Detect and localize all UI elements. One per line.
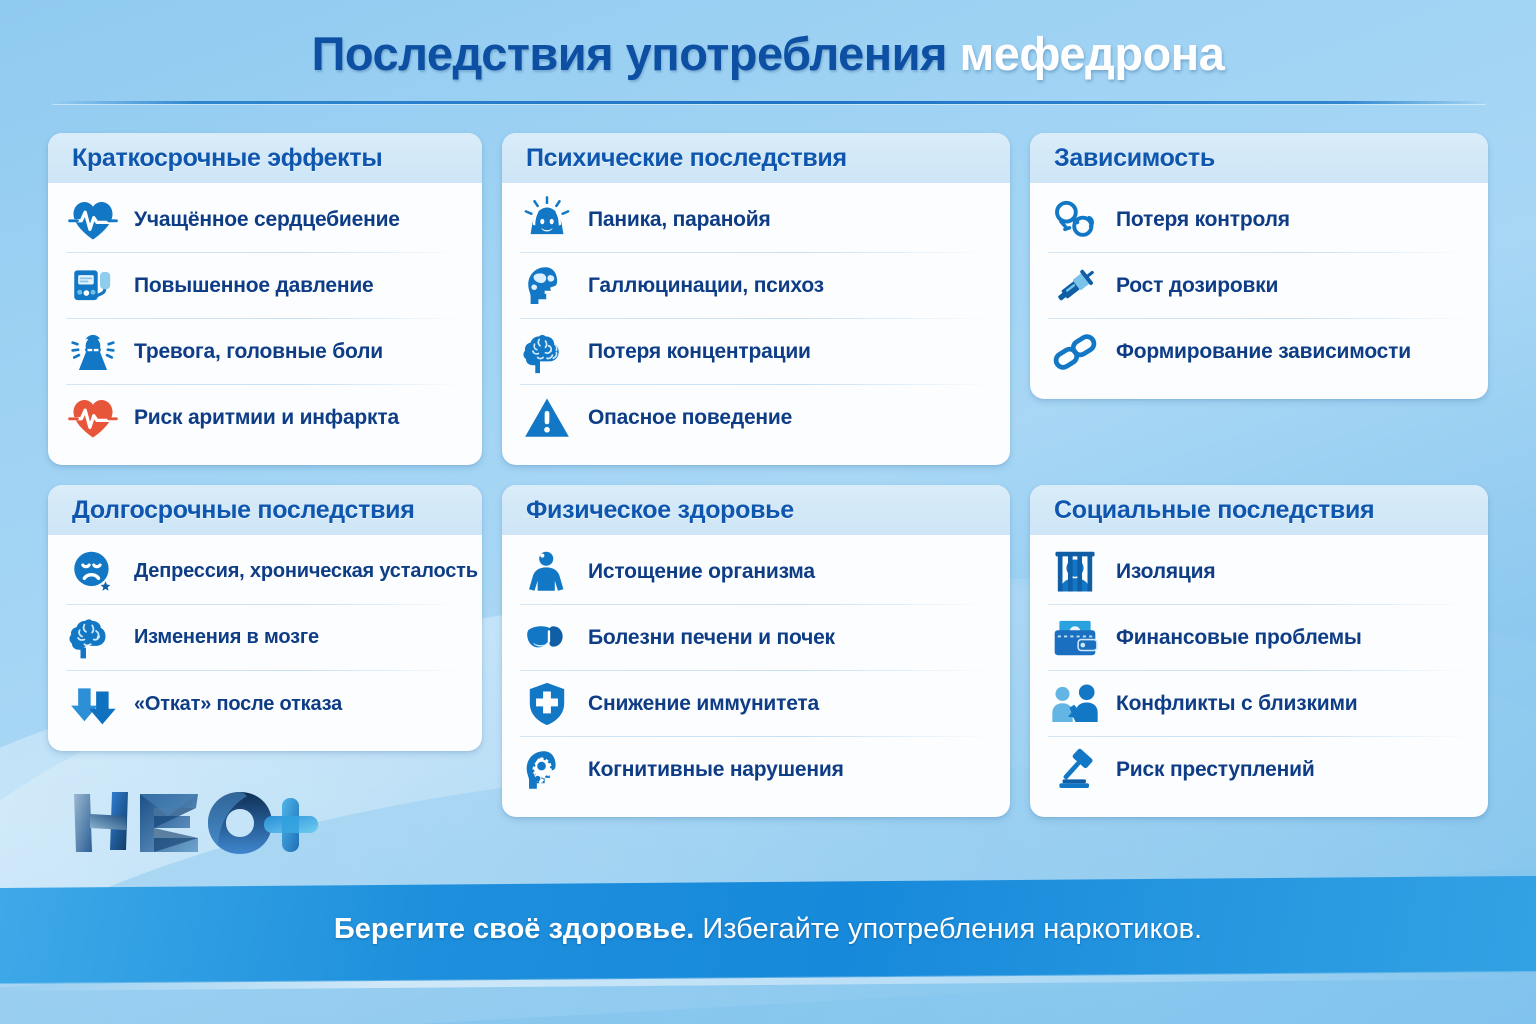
liver-kidney-icon xyxy=(520,611,574,665)
handcuffs-icon xyxy=(1048,193,1102,247)
down-arrows-icon xyxy=(66,677,120,731)
list-item[interactable]: Конфликты с близкими xyxy=(1048,671,1468,737)
list-item[interactable]: Повышенное давление xyxy=(66,253,462,319)
list-item[interactable]: Учащённое сердцебиение xyxy=(66,187,462,253)
list-item-label: Изоляция xyxy=(1116,560,1215,584)
list-item[interactable]: Риск преступлений xyxy=(1048,737,1468,803)
card-title: Долгосрочные последствия xyxy=(72,496,458,525)
sad-face-icon xyxy=(66,545,120,599)
list-item-label: Потеря контроля xyxy=(1116,208,1290,232)
card-title: Краткосрочные эффекты xyxy=(72,144,458,173)
footer-bold-part: Берегите своё здоровье. xyxy=(334,913,694,945)
list-item[interactable]: Риск аритмии и инфаркта xyxy=(66,385,462,451)
list-item-label: Изменения в мозге xyxy=(134,626,319,649)
card-header: Физическое здоровье xyxy=(502,485,1010,535)
list-item-label: Тревога, головные боли xyxy=(134,340,383,364)
hallucination-head-icon xyxy=(520,259,574,313)
footer-normal-part: Избегайте употребления наркотиков. xyxy=(702,913,1202,945)
list-item-label: Когнитивные нарушения xyxy=(588,758,844,782)
list-item[interactable]: Галлюцинации, психоз xyxy=(520,253,990,319)
card-body: Паника, паранойя Галлюцинации, психоз xyxy=(502,183,1010,465)
card-title: Социальные последствия xyxy=(1054,496,1464,525)
list-item-label: Галлюцинации, психоз xyxy=(588,274,824,298)
list-item-label: «Откат» после отказа xyxy=(134,693,342,716)
list-item-label: Болезни печени и почек xyxy=(588,626,835,650)
heart-attack-risk-icon xyxy=(66,391,120,445)
list-item[interactable]: Опасное поведение xyxy=(520,385,990,451)
card-body: Учащённое сердцебиение xyxy=(48,183,482,465)
list-item[interactable]: Финансовые проблемы xyxy=(1048,605,1468,671)
list-item[interactable]: Когнитивные нарушения xyxy=(520,737,990,803)
list-item[interactable]: Рост дозировки xyxy=(1048,253,1468,319)
conflict-people-icon xyxy=(1048,677,1102,731)
wallet-icon xyxy=(1048,611,1102,665)
list-item-label: Учащённое сердцебиение xyxy=(134,208,400,232)
cards-grid: Краткосрочные эффекты Учащённое сердцеби… xyxy=(48,133,1490,817)
gavel-icon xyxy=(1048,743,1102,797)
prison-bars-icon xyxy=(1048,545,1102,599)
blood-pressure-monitor-icon xyxy=(66,259,120,313)
list-item-label: Потеря концентрации xyxy=(588,340,811,364)
list-item-label: Опасное поведение xyxy=(588,406,792,430)
page-title-primary: Последствия употребления xyxy=(312,27,947,80)
card-title: Физическое здоровье xyxy=(526,496,986,525)
card-header: Социальные последствия xyxy=(1030,485,1488,535)
card-physical-health: Физическое здоровье Истощение организма xyxy=(502,485,1010,817)
list-item-label: Рост дозировки xyxy=(1116,274,1278,298)
brain-icon xyxy=(520,325,574,379)
panic-ghost-icon xyxy=(520,193,574,247)
warning-triangle-icon xyxy=(520,391,574,445)
list-item[interactable]: Тревога, головные боли xyxy=(66,319,462,385)
list-item[interactable]: Болезни печени и почек xyxy=(520,605,990,671)
head-gears-icon xyxy=(520,743,574,797)
card-header: Психические последствия xyxy=(502,133,1010,183)
list-item[interactable]: Депрессия, хроническая усталость xyxy=(66,539,462,605)
list-item[interactable]: Формирование зависимости xyxy=(1048,319,1468,385)
list-item[interactable]: Потеря концентрации xyxy=(520,319,990,385)
list-item-label: Риск аритмии и инфаркта xyxy=(134,406,399,430)
infographic-root: Последствия употребления мефедрона Кратк… xyxy=(0,0,1536,1024)
thin-person-icon xyxy=(520,545,574,599)
card-mental-consequences: Психические последствия xyxy=(502,133,1010,465)
list-item[interactable]: Истощение организма xyxy=(520,539,990,605)
headache-person-icon xyxy=(66,325,120,379)
list-item[interactable]: Паника, паранойя xyxy=(520,187,990,253)
footer-message: Берегите своё здоровье. Избегайте употре… xyxy=(0,913,1536,946)
card-title: Зависимость xyxy=(1054,144,1464,173)
list-item[interactable]: Изменения в мозге xyxy=(66,605,462,671)
card-body: Потеря контроля xyxy=(1030,183,1488,399)
card-long-term-consequences: Долгосрочные последствия Депрессия, хрон… xyxy=(48,485,482,751)
title-divider xyxy=(52,101,1486,104)
list-item-label: Формирование зависимости xyxy=(1116,340,1411,364)
page-title: Последствия употребления мефедрона xyxy=(0,26,1536,81)
card-short-term-effects: Краткосрочные эффекты Учащённое сердцеби… xyxy=(48,133,482,465)
list-item-label: Истощение организма xyxy=(588,560,815,584)
shield-cross-icon xyxy=(520,677,574,731)
list-item[interactable]: Снижение иммунитета xyxy=(520,671,990,737)
card-header: Краткосрочные эффекты xyxy=(48,133,482,183)
card-dependence: Зависимость Потеря контроля xyxy=(1030,133,1488,399)
card-header: Зависимость xyxy=(1030,133,1488,183)
list-item-label: Снижение иммунитета xyxy=(588,692,819,716)
card-body: Депрессия, хроническая усталость Изменен… xyxy=(48,535,482,751)
list-item-label: Финансовые проблемы xyxy=(1116,626,1362,650)
list-item[interactable]: «Откат» после отказа xyxy=(66,671,462,737)
page-title-highlight: мефедрона xyxy=(960,27,1225,80)
neo-plus-logo: НЕО+ xyxy=(68,786,338,860)
list-item-label: Конфликты с близкими xyxy=(1116,692,1358,716)
card-title: Психические последствия xyxy=(526,144,986,173)
heartbeat-icon xyxy=(66,193,120,247)
chain-link-icon xyxy=(1048,325,1102,379)
card-body: Истощение организма Болезни печени и поч… xyxy=(502,535,1010,817)
card-header: Долгосрочные последствия xyxy=(48,485,482,535)
list-item-label: Повышенное давление xyxy=(134,274,374,298)
card-social-consequences: Социальные последствия xyxy=(1030,485,1488,817)
list-item[interactable]: Потеря контроля xyxy=(1048,187,1468,253)
syringe-icon xyxy=(1048,259,1102,313)
list-item-label: Депрессия, хроническая усталость xyxy=(134,560,478,583)
list-item[interactable]: Изоляция xyxy=(1048,539,1468,605)
brain-changes-icon xyxy=(66,611,120,665)
list-item-label: Паника, паранойя xyxy=(588,208,771,232)
list-item-label: Риск преступлений xyxy=(1116,758,1315,782)
card-body: Изоляция Финансовые проблемы xyxy=(1030,535,1488,817)
